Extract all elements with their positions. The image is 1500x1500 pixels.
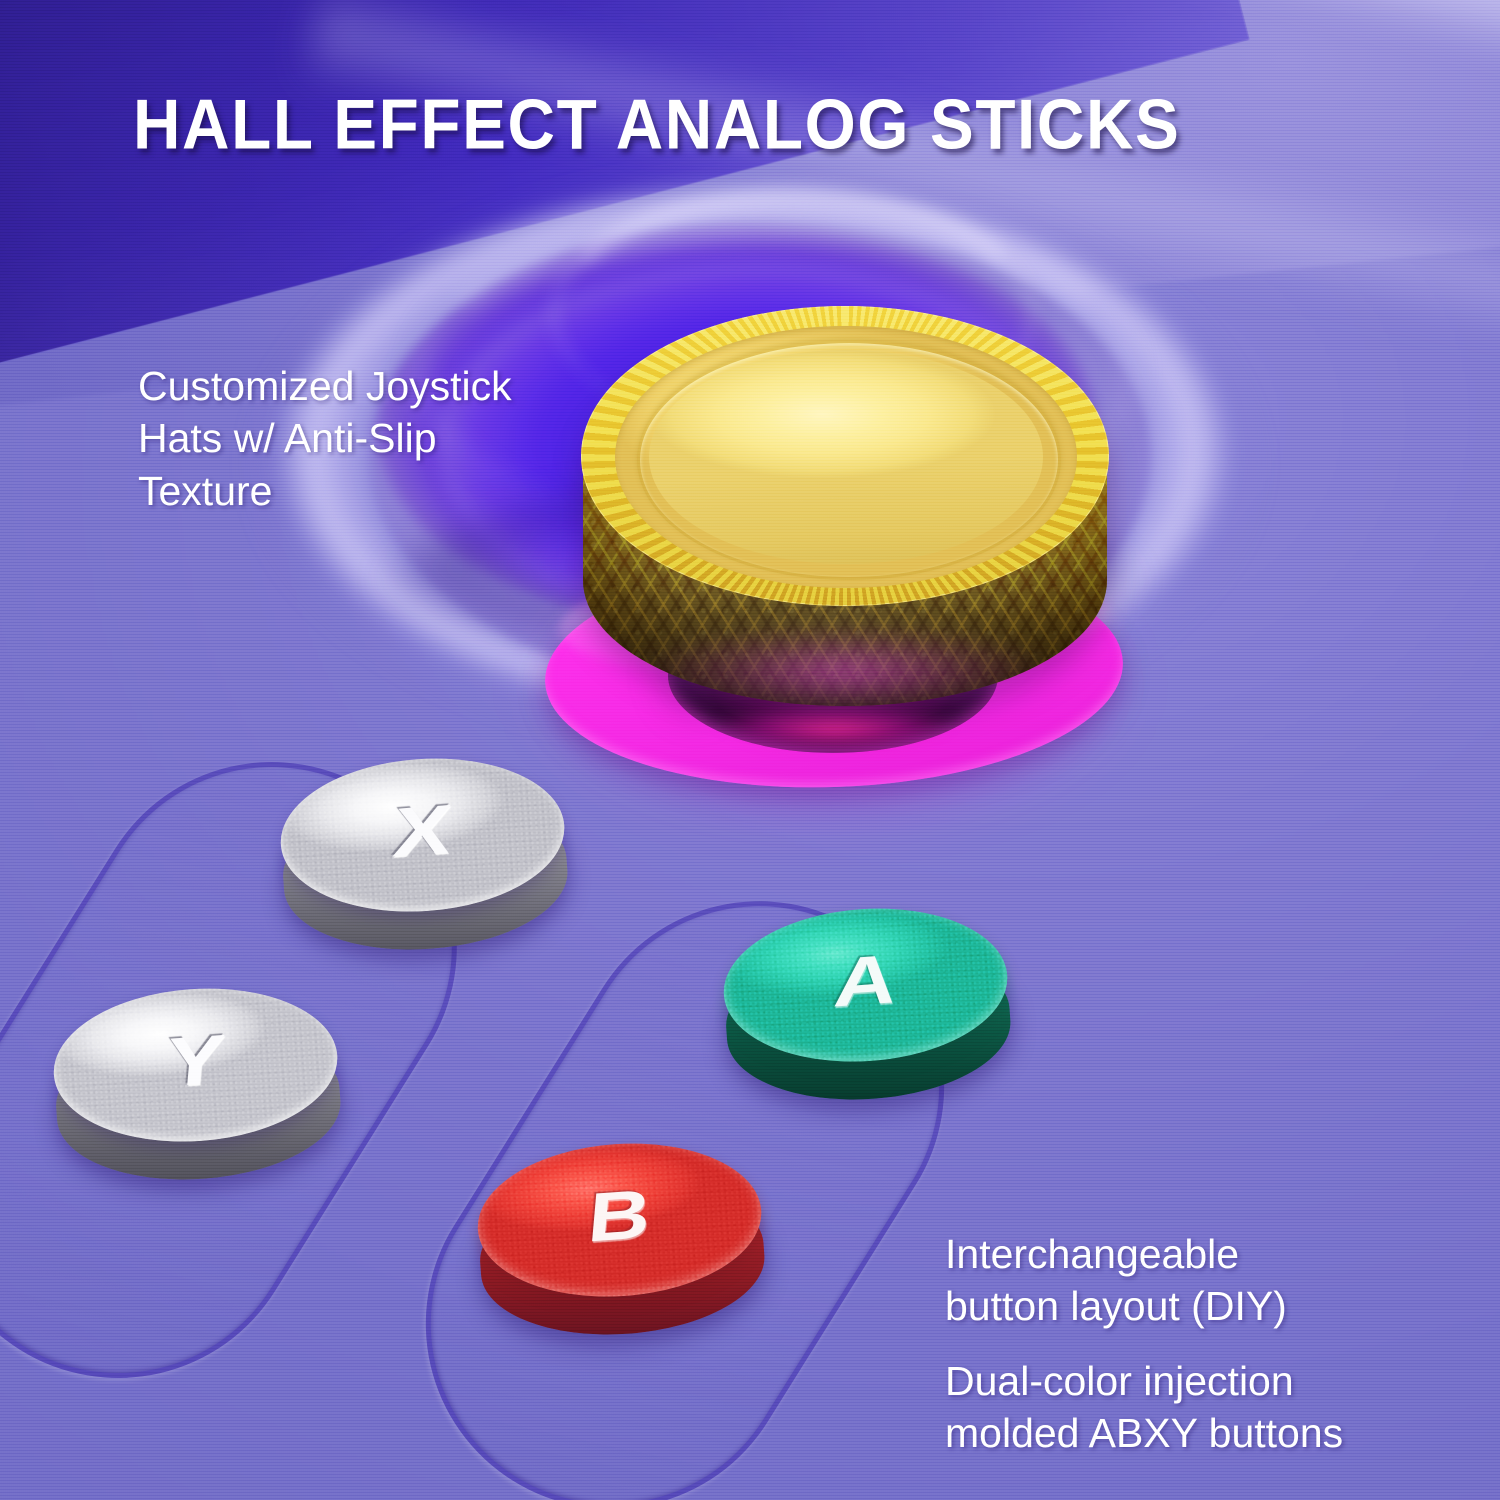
joystick-hat[interactable] (575, 300, 1115, 720)
button-x-label: X (276, 760, 570, 902)
product-feature-image: Y X B A HALL EFFECT ANALOG STICKS Custom… (0, 0, 1500, 1500)
caption-joystick-hats: Customized Joystick Hats w/ Anti-Slip Te… (138, 360, 608, 517)
button-y-label: Y (49, 990, 343, 1132)
button-b[interactable]: B (464, 1130, 779, 1380)
button-a-label: A (719, 910, 1013, 1052)
page-title: HALL EFFECT ANALOG STICKS (133, 85, 1246, 165)
joystick-hat-top-surface-shading (649, 350, 1043, 564)
button-a[interactable]: A (710, 895, 1025, 1145)
button-b-label: B (473, 1145, 767, 1287)
button-y[interactable]: Y (40, 975, 355, 1225)
caption-interchangeable-layout: Interchangeable button layout (DIY) (945, 1228, 1425, 1333)
caption-dual-color-injection: Dual-color injection molded ABXY buttons (945, 1355, 1455, 1460)
button-x[interactable]: X (267, 745, 582, 995)
